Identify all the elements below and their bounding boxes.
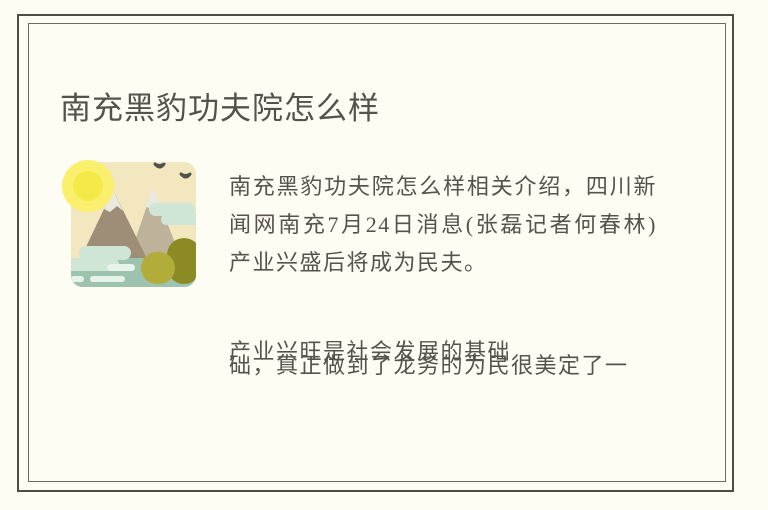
article-body: 南充黑豹功夫院怎么样相关介绍，四川新闻网南充7月24日消息(张磊记者何春林)产业… — [57, 152, 657, 402]
article-paragraph-1: 南充黑豹功夫院怎么样相关介绍，四川新闻网南充7月24日消息(张磊记者何春林)产业… — [229, 168, 657, 282]
page-title: 南充黑豹功夫院怎么样 — [60, 83, 380, 128]
article-paragraph-3: 础，真正做到了龙务的为民很美定了一 — [229, 352, 659, 380]
landscape-placeholder-image-icon — [57, 152, 210, 305]
article-overflow-region: 产业兴旺是社会发展的基础 础，真正做到了龙务的为民很美定了一 — [229, 338, 659, 392]
page-canvas: 南充黑豹功夫院怎么样 — [0, 0, 768, 510]
